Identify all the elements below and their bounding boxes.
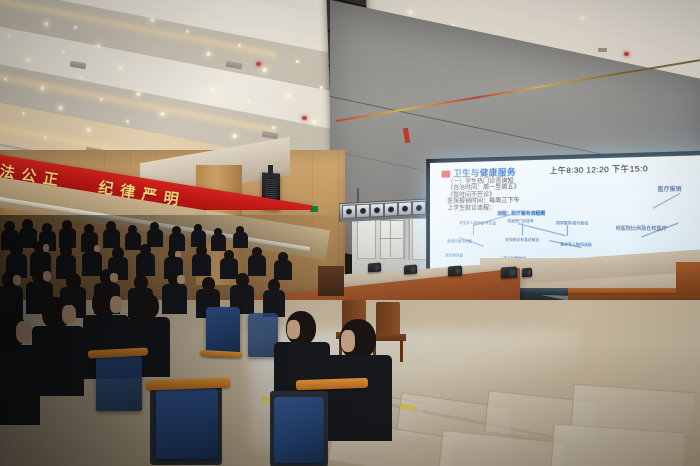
monitor-speaker <box>501 266 517 278</box>
auditorium-photo: 卫生与健康服务 上午8:30 12:20 下午15:0 （一）学生热门诊咨询知 … <box>0 0 700 466</box>
flow-node: 同学陪同/自行前往 <box>556 221 589 226</box>
seat[interactable] <box>206 307 240 355</box>
monitor-speaker <box>448 266 462 277</box>
stage-light-icon <box>398 201 412 216</box>
right-note: 校医院比例及在校医疗 <box>616 225 667 232</box>
flow-node: 医师诊查与诊断 <box>447 239 472 244</box>
stage-light-icon <box>412 201 426 216</box>
slide-body: （一）学生热门诊咨询知 《自治时间：周一至周五》 《暂时间不开诊》 医保报销时间… <box>447 178 520 212</box>
seat[interactable] <box>96 355 142 411</box>
flow-node: 校医院门诊挂号 <box>507 219 533 224</box>
slide-body-line: 医保报销时间：每周三下午 <box>447 198 520 205</box>
flow-node: 在校就诊非急诊就诊 <box>505 238 539 243</box>
seat-armrest <box>200 350 242 358</box>
slide-schedule: 上午8:30 12:20 下午15:0 <box>549 162 648 176</box>
audience-seating <box>0 215 420 466</box>
right-note: 医疗报销 <box>658 185 682 193</box>
seat[interactable] <box>156 389 218 459</box>
flow-node: 学生本人身份证/学生证 <box>459 221 496 226</box>
flow-node: 急诊专人陪同送医 <box>560 242 592 247</box>
flag-icon <box>442 170 451 177</box>
seat[interactable] <box>274 397 324 463</box>
monitor-speaker <box>522 268 532 278</box>
flow-node: 转诊单开具 <box>445 253 463 258</box>
